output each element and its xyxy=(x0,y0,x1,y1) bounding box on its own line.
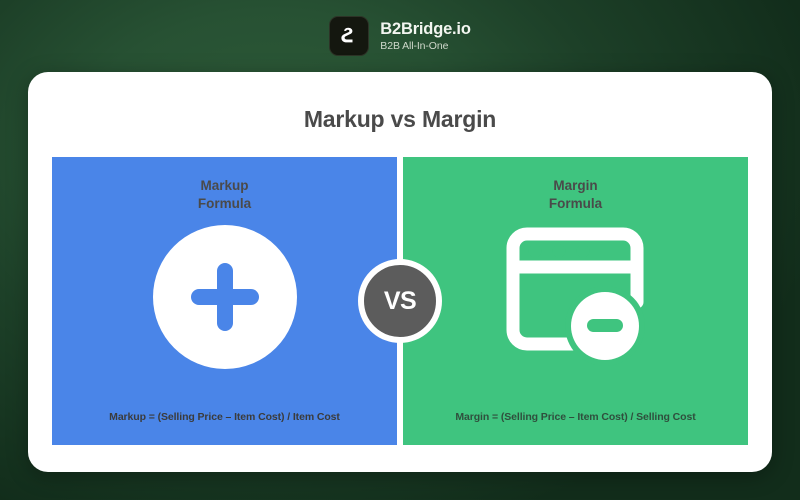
panel-margin-heading-line2: Formula xyxy=(549,196,602,211)
panel-margin-heading-line1: Margin xyxy=(553,178,597,193)
b2bridge-logo-icon xyxy=(329,16,369,56)
panel-margin-heading: Margin Formula xyxy=(403,177,748,213)
brand-tagline: B2B All-In-One xyxy=(380,41,470,52)
panel-markup: Markup Formula Markup = (Selling Price –… xyxy=(52,157,397,445)
panel-markup-heading-line1: Markup xyxy=(200,178,248,193)
brand-text-block: B2Bridge.io B2B All-In-One xyxy=(380,21,470,52)
brand-header: B2Bridge.io B2B All-In-One xyxy=(0,16,800,56)
panel-markup-heading-line2: Formula xyxy=(198,196,251,211)
browser-window-minus-icon xyxy=(501,226,651,368)
content-card: Markup vs Margin Markup Formula Markup =… xyxy=(28,72,772,472)
vs-badge-label: VS xyxy=(384,287,416,316)
panel-markup-icon-wrap xyxy=(52,219,397,374)
panel-markup-formula: Markup = (Selling Price – Item Cost) / I… xyxy=(52,411,397,423)
brand-name: B2Bridge.io xyxy=(380,21,470,38)
panel-margin-formula: Margin = (Selling Price – Item Cost) / S… xyxy=(403,411,748,423)
vs-badge: VS xyxy=(358,259,442,343)
plus-circle-icon xyxy=(151,223,299,371)
panel-margin: Margin Formula xyxy=(403,157,748,445)
panel-margin-icon-wrap xyxy=(403,219,748,374)
infographic-canvas: B2Bridge.io B2B All-In-One Markup vs Mar… xyxy=(0,0,800,500)
panel-markup-heading: Markup Formula xyxy=(52,177,397,213)
page-title: Markup vs Margin xyxy=(28,106,772,133)
